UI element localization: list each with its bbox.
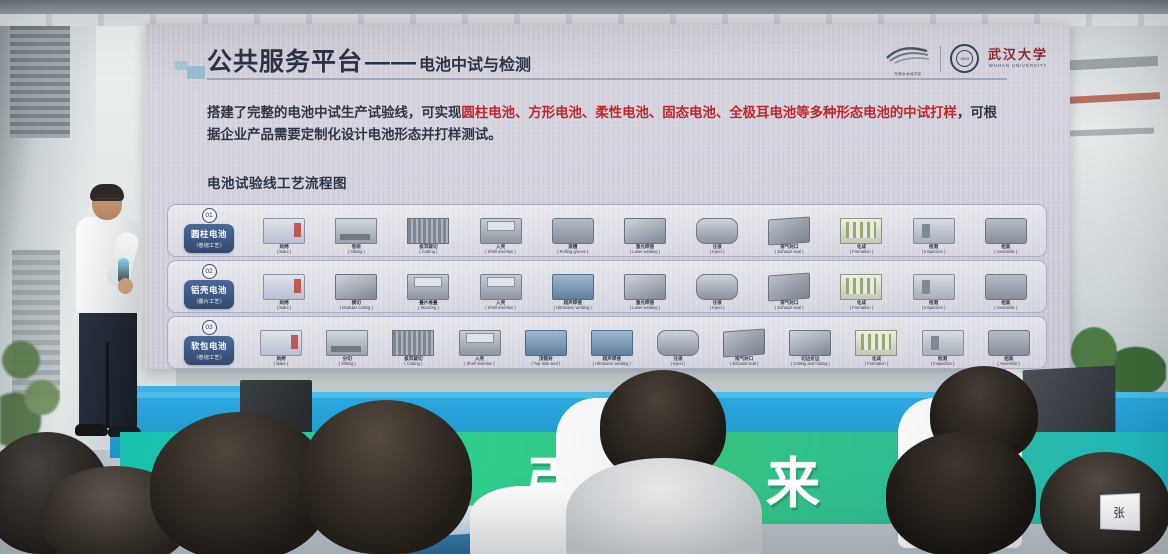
- flow-step-label-en: ( Assemble ): [997, 362, 1020, 367]
- flow-step-label-en: ( Shell insertion ): [485, 306, 516, 311]
- machine-icon: [696, 218, 738, 244]
- machine-icon: [657, 330, 699, 356]
- flow-step-label-en: ( Ultrasonic welding ): [593, 362, 631, 367]
- name-card: 张: [1100, 493, 1140, 531]
- flow-step: 烘烤( Bake ): [249, 316, 313, 367]
- flow-row-badge-group: 01圆柱电池（卷绕工艺）: [170, 208, 248, 253]
- flow-step-label-en: ( Formation ): [850, 250, 873, 255]
- flow-step: 检测( Inspection ): [902, 260, 966, 311]
- partner-logo: 东莞水乡经济区: [885, 40, 931, 77]
- flow-row-label-cn: 铝壳电池: [191, 284, 227, 296]
- machine-icon: [392, 330, 434, 356]
- flow-row-label-cn: 圆柱电池: [191, 228, 227, 240]
- flow-step-label-en: ( Exhaust seal ): [775, 250, 803, 255]
- flow-step-label-en: ( Bake ): [277, 306, 291, 311]
- tent-canopy-edge: [0, 0, 1168, 24]
- flow-step-label-en: ( Stacking ): [418, 306, 439, 311]
- flow-step: 排气封口( Exhaust seal ): [757, 204, 821, 255]
- presenter: [58, 186, 154, 448]
- flow-step-label-en: ( Inspection ): [931, 362, 955, 367]
- flow-step-label-en: ( Inject ): [710, 250, 725, 255]
- flow-step: 模切( Modular cutting ): [324, 260, 388, 311]
- machine-icon: [480, 218, 522, 244]
- machine-icon: [407, 218, 449, 244]
- slide-body-text: 搭建了完整的电池中试生产试验线，可实现圆柱电池、方形电池、柔性电池、固态电池、全…: [207, 102, 1007, 145]
- flow-step: 卷绕( Slitting ): [324, 204, 388, 255]
- machine-icon: [459, 330, 501, 356]
- whu-name-en: WUHAN UNIVERSITY: [989, 64, 1048, 68]
- machine-icon: [335, 274, 377, 300]
- flow-step: 组装( Assemble ): [974, 260, 1038, 311]
- wave-icon: [885, 40, 931, 66]
- flow-step: 激光焊接( Laser welding ): [613, 204, 677, 255]
- flow-row-label-process: （卷绕工艺）: [191, 353, 227, 361]
- machine-icon: [855, 330, 897, 356]
- flow-row: 02铝壳电池（叠片工艺）烘烤( Bake )模切( Modular cuttin…: [167, 260, 1047, 313]
- machine-icon: [985, 274, 1027, 300]
- process-flow-diagram: 01圆柱电池（卷绕工艺）烘烤( Bake )卷绕( Slitting )极耳裁切…: [167, 204, 1047, 372]
- presenter-trousers: [79, 308, 137, 428]
- flow-step-label-en: ( Inspection ): [922, 250, 946, 255]
- presentation-board: 公共服务平台 —— 电池中试与检测 东莞水乡经济区 1893: [145, 24, 1070, 369]
- flow-step-label-en: ( Inject ): [671, 362, 686, 367]
- flow-row-badge-group: 03软包电池（卷绕工艺）: [170, 320, 248, 365]
- university-seal-icon: 1893: [950, 44, 979, 73]
- flow-step: 化成( Formation ): [829, 204, 893, 255]
- machine-icon: [985, 218, 1027, 244]
- title-marker-small: [175, 61, 187, 70]
- machine-icon: [624, 218, 666, 244]
- machine-icon: [525, 330, 567, 356]
- flow-step-label-en: ( Bake ): [277, 250, 291, 255]
- page-subtitle: 电池中试与检测: [419, 51, 531, 75]
- flow-step: 极耳裁切( Cutting ): [396, 204, 460, 255]
- flow-step: 组装( Assemble ): [977, 316, 1041, 367]
- flow-row-label-cn: 软包电池: [191, 340, 227, 352]
- flow-row: 03软包电池（卷绕工艺）烘烤( Bake )分切( Slitting )极耳裁切…: [167, 316, 1047, 369]
- flow-step: 注液( Inject ): [685, 204, 749, 255]
- flow-step: 烘烤( Bake ): [252, 260, 316, 311]
- flow-step-list: 烘烤( Bake )卷绕( Slitting )极耳裁切( Cutting )入…: [248, 204, 1046, 257]
- body-highlight: 圆柱电池、方形电池、柔性电池、固态电池、全极耳电池等多种形态电池的中试打样: [461, 105, 956, 120]
- flow-step: 极耳裁切( Cutting ): [381, 316, 445, 367]
- flow-step-label-en: ( Rolling groove ): [557, 250, 588, 255]
- presenter-shoe-left: [75, 424, 108, 436]
- audience-head: [300, 400, 472, 554]
- machine-icon: [768, 273, 810, 302]
- flow-step-label-en: ( Slitting ): [339, 362, 356, 367]
- flow-step-label-en: ( Bake ): [274, 362, 288, 367]
- seal-year: 1893: [956, 50, 973, 67]
- flow-step-label-en: ( Exhaust seal ): [730, 362, 758, 367]
- flow-row-badge-group: 02铝壳电池（叠片工艺）: [170, 264, 248, 309]
- wuhan-university-logo: 武汉大学 WUHAN UNIVERSITY: [988, 49, 1048, 68]
- machine-icon: [624, 274, 666, 300]
- flow-step: 组装( Assemble ): [974, 204, 1038, 255]
- flow-step: 叠片堆叠( Stacking ): [396, 260, 460, 311]
- flow-step: 化成( Formation ): [844, 316, 908, 367]
- machine-icon: [696, 274, 738, 300]
- flow-row-label: 铝壳电池（叠片工艺）: [184, 280, 234, 309]
- machine-icon: [552, 218, 594, 244]
- flow-row-number: 03: [202, 320, 217, 335]
- flow-step-label-en: ( Cutting ): [419, 250, 437, 255]
- flow-step: 超声焊接( Ultrasonic welding ): [541, 260, 605, 311]
- machine-icon: [552, 274, 594, 300]
- title-dash: ——: [365, 48, 417, 77]
- flow-step-label-en: ( Shell insertion ): [485, 250, 516, 255]
- flow-step-label-en: ( Assemble ): [994, 250, 1017, 255]
- glasses-icon: [94, 198, 120, 204]
- flow-step-label-en: ( Modular cutting ): [340, 306, 373, 311]
- flow-step-label-en: ( Exhaust seal ): [775, 306, 803, 311]
- flow-step: 切边折边( Cutting and folding ): [778, 316, 842, 367]
- partner-logo-label: 东莞水乡经济区: [885, 72, 931, 77]
- title-marker: [187, 66, 205, 79]
- flow-step: 激光焊接( Laser welding ): [613, 260, 677, 311]
- machine-icon: [480, 274, 522, 300]
- flow-step: 超声焊接( Ultrasonic welding ): [580, 316, 644, 367]
- machine-icon: [723, 329, 765, 358]
- flow-step-label-en: ( Cutting ): [404, 362, 422, 367]
- flow-step-label-en: ( Inject ): [710, 306, 725, 311]
- machine-icon: [263, 274, 305, 300]
- flow-step: 滚槽( Rolling groove ): [541, 204, 605, 255]
- machine-icon: [260, 330, 302, 356]
- flow-step: 注液( Inject ): [685, 260, 749, 311]
- flow-row: 01圆柱电池（卷绕工艺）烘烤( Bake )卷绕( Slitting )极耳裁切…: [167, 204, 1047, 257]
- body-segment-1: 搭建了完整的电池中试生产试验线，可实现: [207, 105, 461, 120]
- flow-step: 化成( Formation ): [829, 260, 893, 311]
- machine-icon: [326, 330, 368, 356]
- flow-step: 入壳( Shell insertion ): [469, 204, 533, 255]
- flow-row-label: 软包电池（卷绕工艺）: [184, 336, 234, 365]
- flow-row-number: 01: [202, 208, 217, 223]
- machine-icon: [407, 274, 449, 300]
- flow-step: 入壳( Shell insertion ): [469, 260, 533, 311]
- flow-step-list: 烘烤( Bake )模切( Modular cutting )叠片堆叠( Sta…: [248, 260, 1046, 313]
- machine-icon: [768, 217, 810, 246]
- flow-step-label-en: ( Ultrasonic welding ): [554, 306, 592, 311]
- flow-step: 排气封口( Exhaust seal ): [712, 316, 776, 367]
- logo-group: 东莞水乡经济区 1893 武汉大学 WUHAN UNIVERSITY: [885, 40, 1048, 77]
- flow-step: 排气封口( Exhaust seal ): [757, 260, 821, 311]
- machine-icon: [840, 218, 882, 244]
- flow-row-label-process: （叠片工艺）: [191, 297, 227, 305]
- flow-step-label-en: ( Top side seal ): [531, 362, 560, 367]
- flow-step-label-en: ( Formation ): [850, 306, 873, 311]
- flow-step: 入壳( Shell insertion ): [448, 316, 512, 367]
- flow-step-label-en: ( Formation ): [865, 362, 888, 367]
- flow-step-label-en: ( Inspection ): [922, 306, 946, 311]
- machine-icon: [913, 274, 955, 300]
- flow-step: 检测( Inspection ): [911, 316, 975, 367]
- flow-row-label: 圆柱电池（卷绕工艺）: [184, 224, 234, 253]
- machine-icon: [263, 218, 305, 244]
- flow-row-label-process: （卷绕工艺）: [191, 241, 227, 249]
- flow-step-label-en: ( Shell insertion ): [464, 362, 495, 367]
- flow-step: 顶侧封( Top side seal ): [514, 316, 578, 367]
- banner-character: 来: [766, 439, 830, 518]
- machine-icon: [591, 330, 633, 356]
- flow-step-label-en: ( Laser welding ): [630, 250, 660, 255]
- flow-step-list: 烘烤( Bake )分切( Slitting )极耳裁切( Cutting )入…: [248, 316, 1046, 369]
- machine-icon: [922, 330, 964, 356]
- flow-step: 注液( Inject ): [646, 316, 710, 367]
- flow-step-label-en: ( Slitting ): [348, 250, 365, 255]
- flow-row-number: 02: [202, 264, 217, 279]
- section-heading: 电池试验线工艺流程图: [207, 172, 347, 192]
- machine-icon: [335, 218, 377, 244]
- flow-step-label-en: ( Laser welding ): [630, 306, 660, 311]
- slide-title-group: 公共服务平台 —— 电池中试与检测: [207, 42, 531, 78]
- flow-step: 分切( Slitting ): [315, 316, 379, 367]
- logo-divider: [940, 46, 941, 72]
- audience-head: [886, 432, 1036, 554]
- screenshot-root: 公共服务平台 —— 电池中试与检测 东莞水乡经济区 1893: [0, 0, 1168, 554]
- machine-icon: [789, 330, 831, 356]
- page-title: 公共服务平台: [207, 42, 363, 78]
- title-divider: [207, 78, 1007, 80]
- presenter-hand: [118, 278, 133, 294]
- machine-icon: [913, 218, 955, 244]
- flow-step-label-en: ( Assemble ): [994, 306, 1017, 311]
- flow-step: 烘烤( Bake ): [252, 204, 316, 255]
- flow-step-label-en: ( Cutting and folding ): [791, 362, 830, 367]
- machine-icon: [988, 330, 1030, 356]
- machine-icon: [840, 274, 882, 300]
- flow-step: 检测( Inspection ): [902, 204, 966, 255]
- whu-name-cn: 武汉大学: [988, 49, 1048, 62]
